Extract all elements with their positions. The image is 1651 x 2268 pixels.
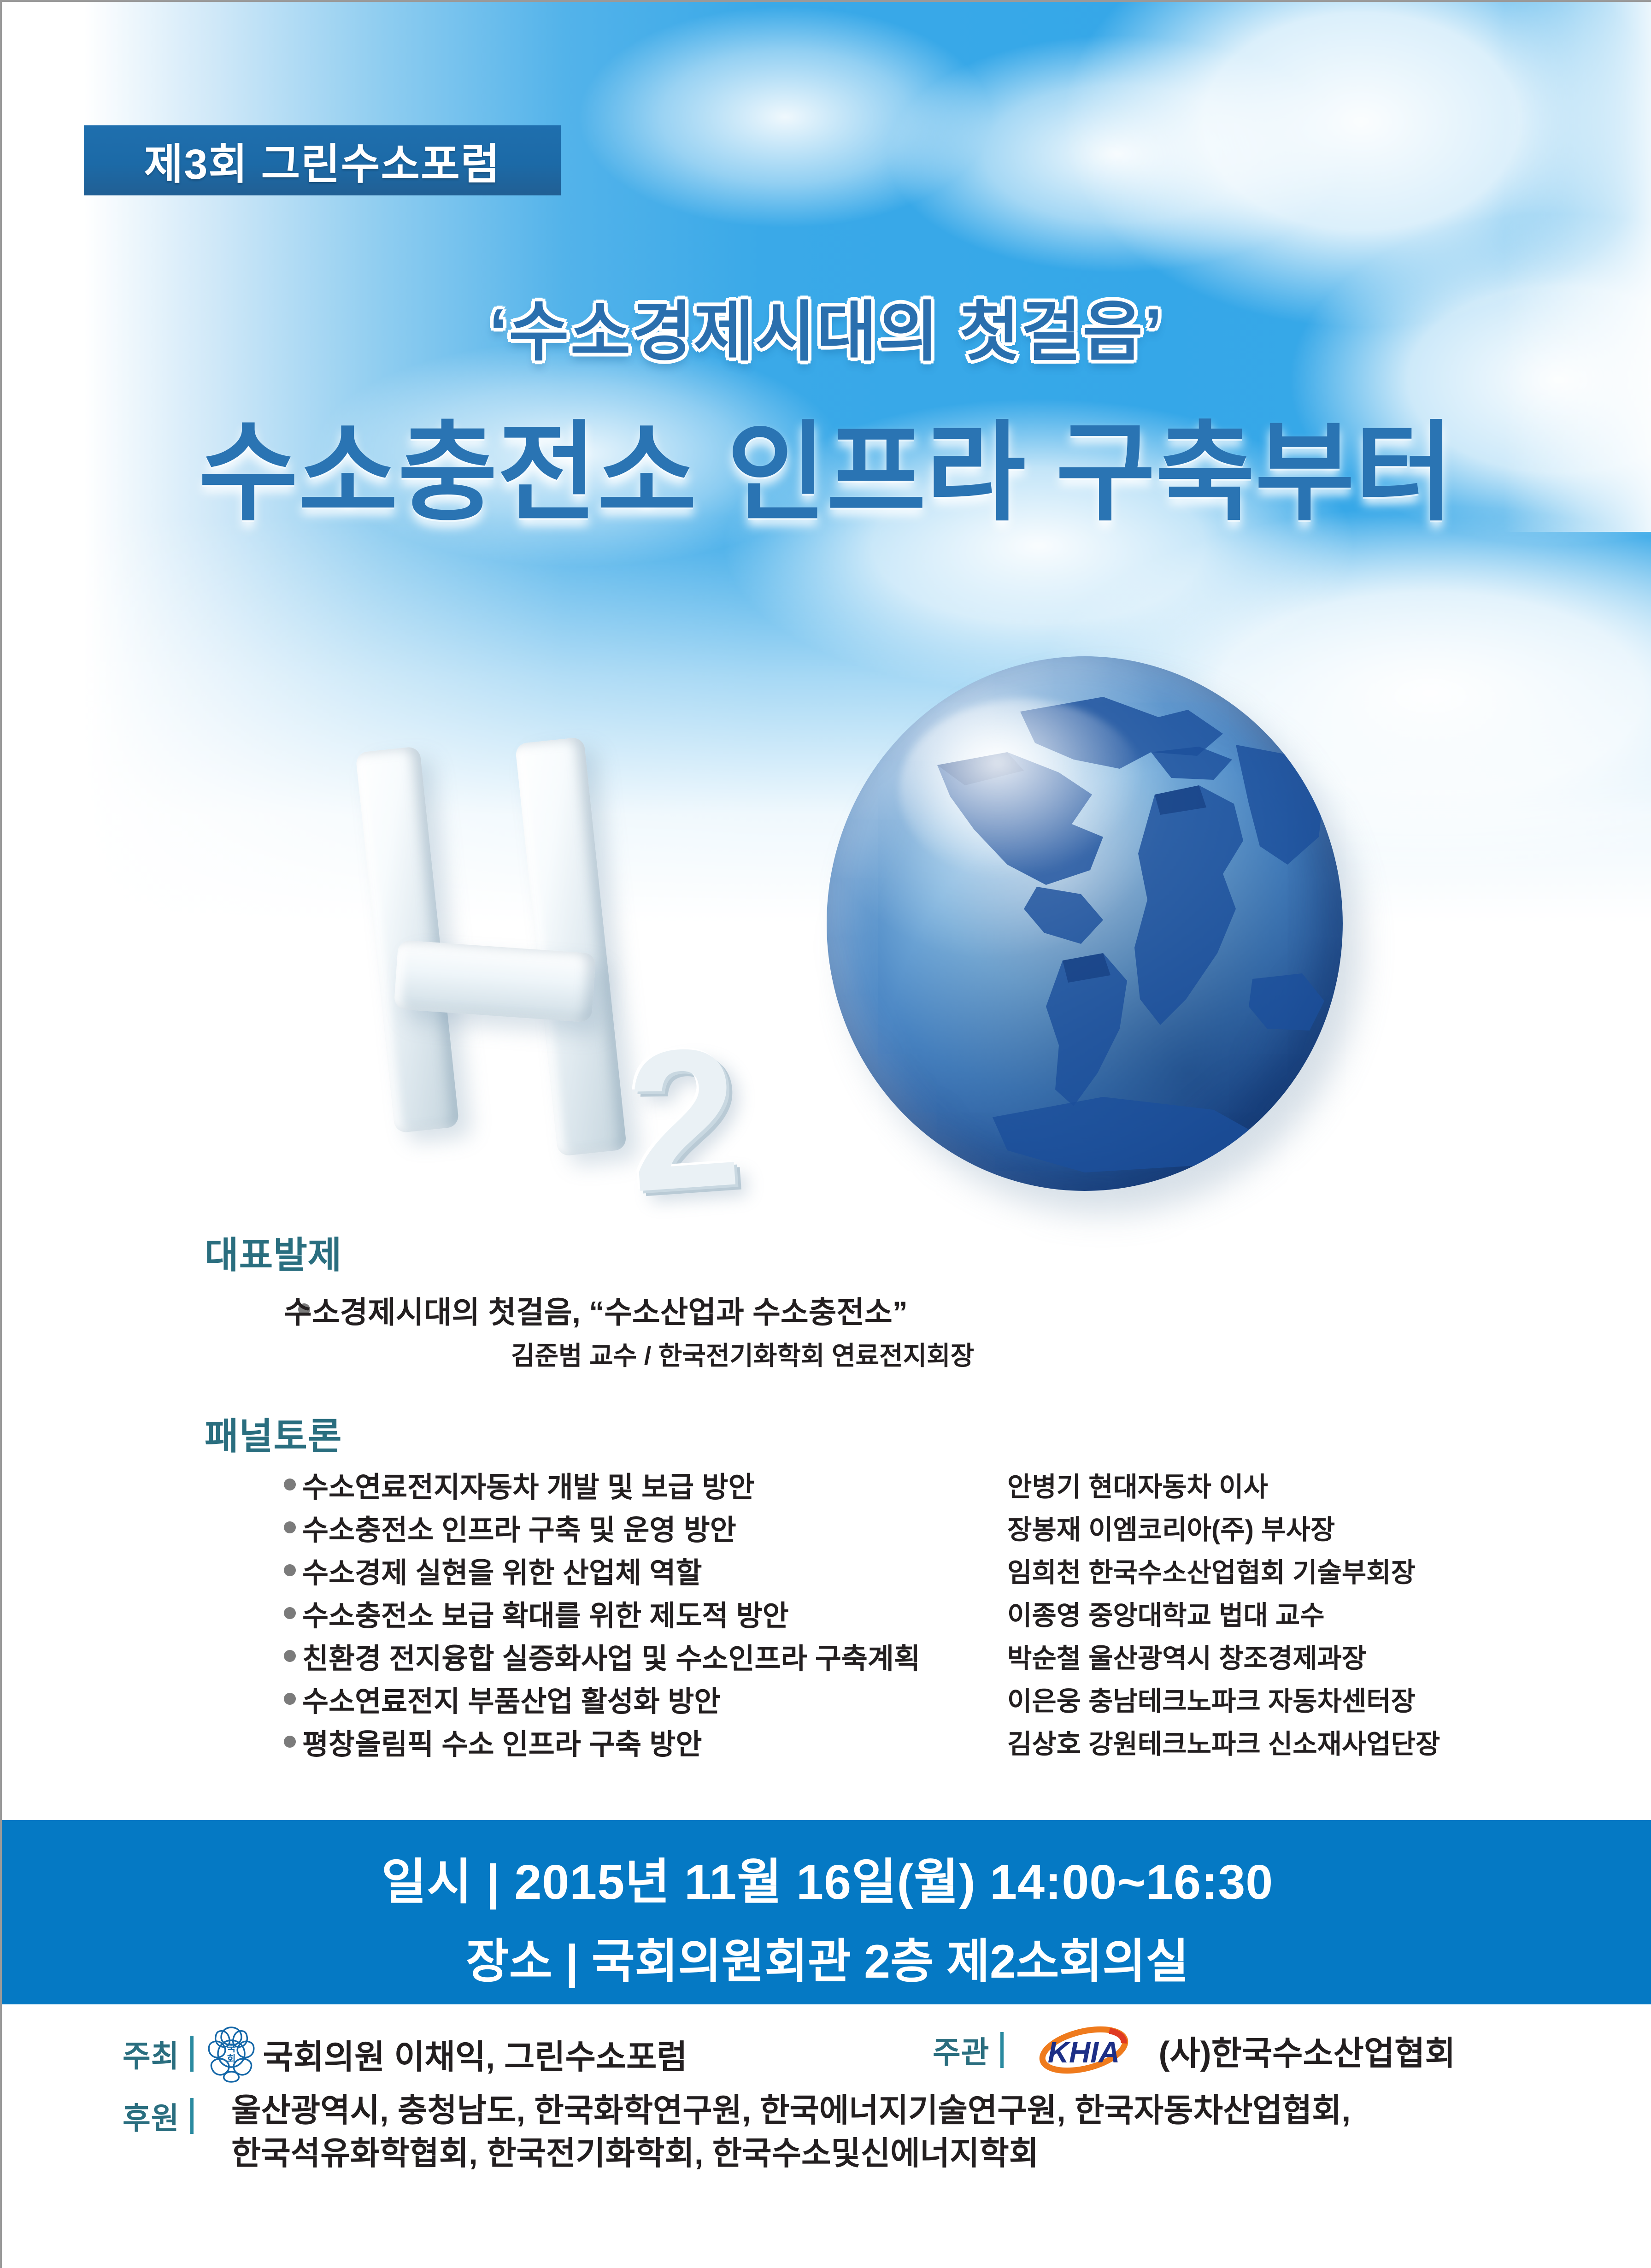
organizer-name: (사)한국수소산업협회 bbox=[1158, 2026, 1455, 2074]
panel-row: 평창올림픽 수소 인프라 구축 방안 김상호 강원테크노파크 신소재사업단장 bbox=[284, 1720, 1556, 1763]
h2-formula-graphic: 2 bbox=[306, 670, 836, 1191]
host-label: 주최 bbox=[123, 2032, 179, 2076]
panel-row: 친환경 전지융합 실증화사업 및 수소인프라 구축계획 박순철 울산광역시 창조… bbox=[284, 1634, 1556, 1677]
event-venue: 장소 | 국회의원회관 2층 제2소회의실 bbox=[2, 1924, 1651, 1991]
panel-bullet-icon bbox=[284, 1564, 296, 1576]
panel-bullet-icon bbox=[284, 1607, 296, 1619]
letter-h-crossbar bbox=[394, 940, 596, 1023]
panel-speaker: 안병기 현대자동차 이사 bbox=[1007, 1465, 1268, 1504]
sponsor-line: 울산광역시, 충청남도, 한국화학연구원, 한국에너지기술연구원, 한국자동차산… bbox=[231, 2089, 1614, 2132]
panel-topic: 수소연료전지 부품산업 활성화 방안 bbox=[302, 1678, 720, 1720]
panel-speaker: 박순철 울산광역시 창조경제과장 bbox=[1007, 1637, 1366, 1675]
khia-logo-icon: KHIA bbox=[1015, 2025, 1153, 2075]
panel-row: 수소연료전지자동차 개발 및 보급 방안 안병기 현대자동차 이사 bbox=[284, 1463, 1556, 1506]
panel-speaker: 김상호 강원테크노파크 신소재사업단장 bbox=[1007, 1722, 1440, 1761]
host-divider bbox=[190, 2036, 194, 2072]
event-datetime: 일시 | 2015년 11월 16일(월) 14:00~16:30 bbox=[2, 1842, 1651, 1913]
footer-credits: 주최 bbox=[2, 2004, 1651, 2268]
forum-edition-badge: 제3회 그린수소포럼 bbox=[84, 125, 561, 195]
poster-root: 제3회 그린수소포럼 ‘수소경제시대의 첫걸음’ 수소충전소 인프라 구축부터 … bbox=[0, 0, 1651, 2268]
poster-main-title: 수소충전소 인프라 구축부터 bbox=[2, 384, 1651, 542]
svg-text:회: 회 bbox=[227, 2054, 236, 2065]
panel-bullet-icon bbox=[284, 1736, 296, 1748]
panel-topic: 수소충전소 보급 확대를 위한 제도적 방안 bbox=[302, 1592, 789, 1634]
sponsor-label: 후원 bbox=[123, 2094, 179, 2138]
sponsor-list: 울산광역시, 충청남도, 한국화학연구원, 한국에너지기술연구원, 한국자동차산… bbox=[231, 2089, 1614, 2175]
panel-topic: 평창올림픽 수소 인프라 구축 방안 bbox=[302, 1721, 702, 1762]
panel-topic: 수소연료전지자동차 개발 및 보급 방안 bbox=[302, 1464, 755, 1505]
panel-speaker: 임희천 한국수소산업협회 기술부회장 bbox=[1007, 1551, 1416, 1590]
panel-row: 수소충전소 보급 확대를 위한 제도적 방안 이종영 중앙대학교 법대 교수 bbox=[284, 1591, 1556, 1634]
panel-bullet-icon bbox=[284, 1479, 296, 1490]
forum-edition-label: 제3회 그린수소포럼 bbox=[144, 130, 501, 191]
panel-bullet-icon bbox=[284, 1693, 296, 1705]
organizer-label: 주관 bbox=[933, 2028, 989, 2072]
panel-bullet-icon bbox=[284, 1521, 296, 1533]
organizer-divider bbox=[1000, 2032, 1004, 2068]
hero-illustration: 2 bbox=[306, 656, 1389, 1209]
host-name: 국회의원 이채익, 그린수소포럼 bbox=[263, 2030, 687, 2078]
footer-host-row: 주최 bbox=[2, 2017, 1651, 2086]
globe-highlight bbox=[899, 699, 1147, 881]
panel-speaker: 이종영 중앙대학교 법대 교수 bbox=[1007, 1594, 1325, 1632]
panel-row: 수소연료전지 부품산업 활성화 방안 이은웅 충남테크노파크 자동차센터장 bbox=[284, 1677, 1556, 1720]
globe-icon bbox=[827, 656, 1343, 1191]
panel-row: 수소충전소 인프라 구축 및 운영 방안 장봉재 이엠코리아(주) 부사장 bbox=[284, 1506, 1556, 1549]
poster-subtitle: ‘수소경제시대의 첫걸음’ bbox=[2, 278, 1651, 373]
letter-h-right-stem bbox=[515, 737, 627, 1157]
keynote-speaker: 김준범 교수 / 한국전기화학회 연료전지회장 bbox=[511, 1335, 974, 1373]
national-assembly-emblem-icon: 국 회 bbox=[205, 2025, 258, 2083]
panel-speaker: 이은웅 충남테크노파크 자동차센터장 bbox=[1007, 1679, 1416, 1718]
panel-row: 수소경제 실현을 위한 산업체 역할 임희천 한국수소산업협회 기술부회장 bbox=[284, 1549, 1556, 1591]
panel-section-heading: 패널토론 bbox=[205, 1407, 342, 1460]
letter-h-left-stem bbox=[355, 746, 459, 1133]
event-details-bar: 일시 | 2015년 11월 16일(월) 14:00~16:30 장소 | 국… bbox=[2, 1820, 1651, 2004]
sponsor-label-group: 후원 bbox=[123, 2094, 205, 2138]
sponsor-line: 한국석유화학협회, 한국전기화학회, 한국수소및신에너지학회 bbox=[231, 2132, 1614, 2175]
panel-speaker: 장봉재 이엠코리아(주) 부사장 bbox=[1007, 1508, 1335, 1547]
panel-topic: 수소경제 실현을 위한 산업체 역할 bbox=[302, 1549, 702, 1591]
panel-topic: 친환경 전지융합 실증화사업 및 수소인프라 구축계획 bbox=[302, 1635, 920, 1677]
organizer-block: 주관 KHIA (사)한국수소산업협회 bbox=[933, 2025, 1456, 2075]
keynote-topic: 수소경제시대의 첫걸음, “수소산업과 수소충전소” bbox=[284, 1288, 908, 1332]
sponsor-divider bbox=[190, 2098, 194, 2134]
svg-text:국: 국 bbox=[227, 2043, 236, 2054]
panel-topic-list: 수소연료전지자동차 개발 및 보급 방안 안병기 현대자동차 이사 수소충전소 … bbox=[284, 1463, 1556, 1763]
subscript-two-glyph: 2 bbox=[622, 1017, 746, 1222]
svg-text:KHIA: KHIA bbox=[1048, 2036, 1120, 2069]
host-block: 주최 bbox=[123, 2025, 687, 2083]
panel-topic: 수소충전소 인프라 구축 및 운영 방안 bbox=[302, 1507, 736, 1548]
panel-bullet-icon bbox=[284, 1650, 296, 1662]
keynote-section-heading: 대표발제 bbox=[205, 1225, 342, 1279]
